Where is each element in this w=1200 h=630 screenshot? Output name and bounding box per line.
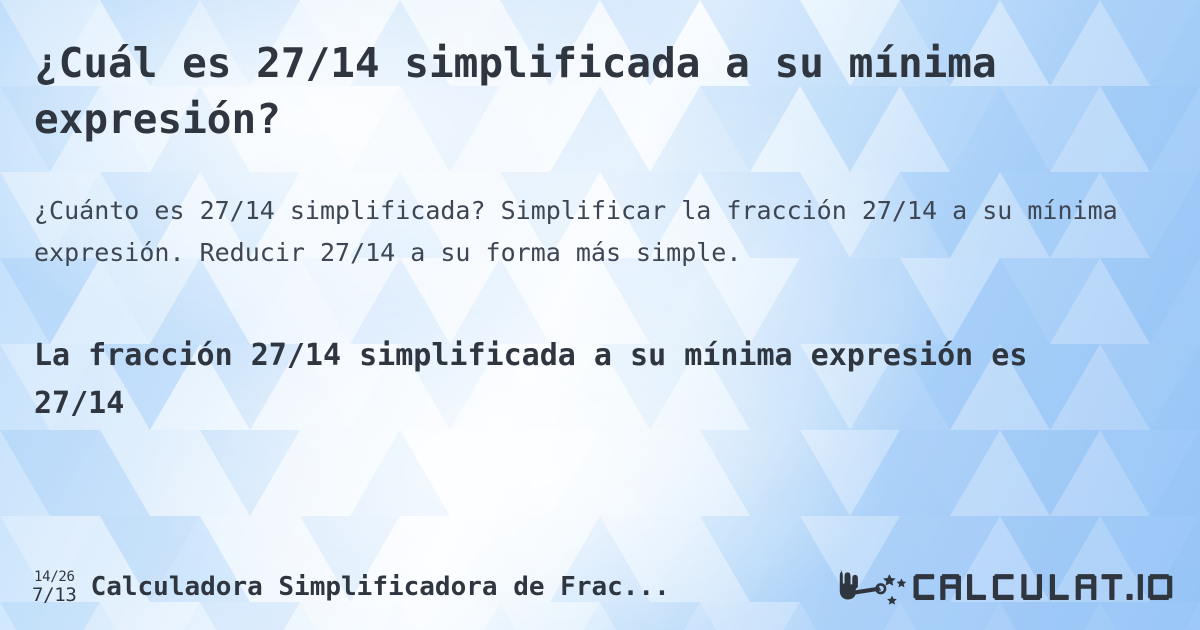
answer-text: La fracción 27/14 simplificada a su míni…: [34, 332, 1094, 428]
page-title: ¿Cuál es 27/14 simplificada a su mínima …: [34, 35, 1034, 147]
description-text: ¿Cuánto es 27/14 simplificada? Simplific…: [34, 190, 1144, 274]
fraction-icon-bottom: 7/13: [32, 586, 77, 605]
wand-hand-icon: [839, 571, 906, 605]
brand-wordmark: [914, 574, 1173, 600]
og-card: ¿Cuál es 27/14 simplificada a su mínima …: [0, 0, 1200, 630]
footer-left-group: 14/26 7/13 Calculadora Simplificadora de…: [32, 570, 807, 605]
fraction-icon-top: 14/26: [34, 570, 75, 584]
footer-title: Calculadora Simplificadora de Frac...: [91, 572, 670, 602]
footer: 14/26 7/13 Calculadora Simplificadora de…: [0, 544, 1200, 630]
card-content: ¿Cuál es 27/14 simplificada a su mínima …: [0, 0, 1200, 630]
fraction-icon: 14/26 7/13: [32, 570, 77, 605]
brand-logo[interactable]: CALCULAT.IO: [829, 564, 1174, 610]
